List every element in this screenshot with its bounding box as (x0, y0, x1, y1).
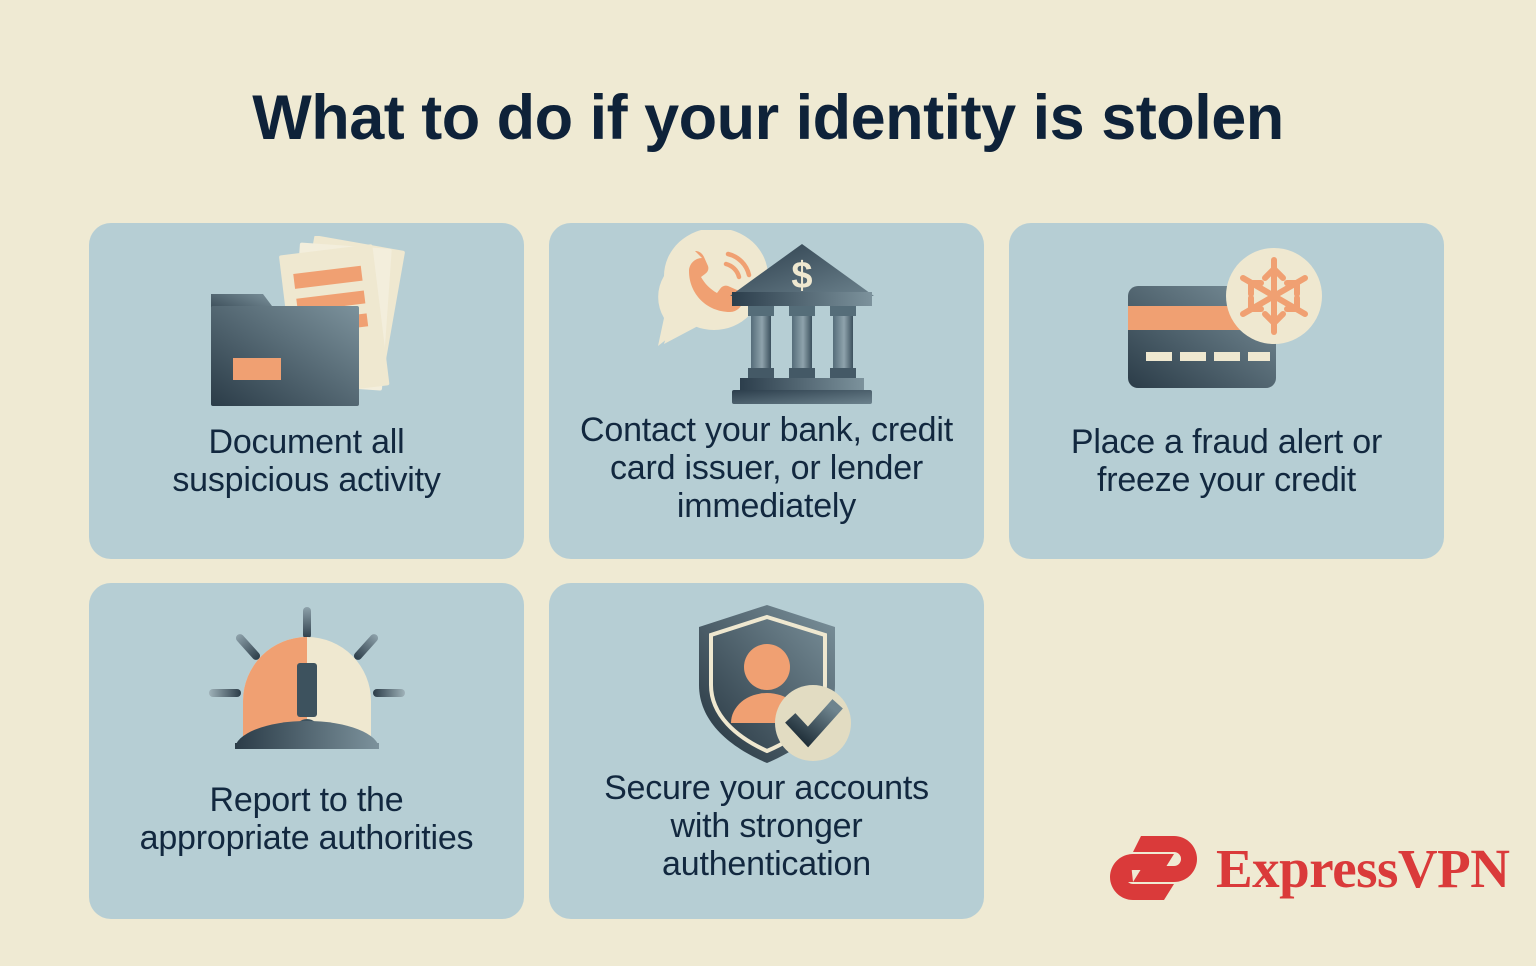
cards-grid: Document all suspicious activity (89, 223, 1447, 919)
card-label: Document all suspicious activity (112, 423, 502, 499)
card-label-line: Secure your accounts (572, 769, 962, 807)
card-report-authorities[interactable]: Report to the appropriate authorities (89, 583, 524, 919)
shield-user-check-icon (549, 583, 984, 769)
cards-row-1: Document all suspicious activity (89, 223, 1447, 559)
card-label-line: appropriate authorities (112, 819, 502, 857)
card-document-activity[interactable]: Document all suspicious activity (89, 223, 524, 559)
card-label-line: suspicious activity (112, 461, 502, 499)
credit-card-snowflake-icon (1009, 223, 1444, 423)
expressvpn-wordmark: ExpressVPN (1216, 841, 1509, 896)
card-label: Secure your accounts with stronger authe… (572, 769, 962, 883)
expressvpn-logo[interactable]: ExpressVPN (1108, 833, 1509, 903)
card-label: Report to the appropriate authorities (112, 781, 502, 857)
expressvpn-e-mark-icon (1108, 833, 1200, 903)
card-label-line: Document all (112, 423, 502, 461)
card-label: Contact your bank, credit card issuer, o… (572, 411, 962, 525)
card-label-line: immediately (572, 487, 962, 525)
infographic-page: What to do if your identity is stolen (0, 0, 1536, 966)
card-label-line: with stronger (572, 807, 962, 845)
card-label-line: Contact your bank, credit (572, 411, 962, 449)
card-secure-accounts[interactable]: Secure your accounts with stronger authe… (549, 583, 984, 919)
card-label: Place a fraud alert or freeze your credi… (1032, 423, 1422, 499)
card-label-line: Place a fraud alert or (1032, 423, 1422, 461)
card-label-line: Report to the (112, 781, 502, 819)
card-label-line: card issuer, or lender (572, 449, 962, 487)
card-label-line: freeze your credit (1032, 461, 1422, 499)
card-label-line: authentication (572, 845, 962, 883)
page-title: What to do if your identity is stolen (0, 82, 1536, 154)
folder-documents-icon (89, 223, 524, 423)
card-contact-bank[interactable]: $ (549, 223, 984, 559)
siren-alert-icon (89, 583, 524, 781)
bank-phone-call-icon: $ (549, 223, 984, 411)
svg-text:$: $ (791, 255, 812, 297)
card-fraud-alert[interactable]: Place a fraud alert or freeze your credi… (1009, 223, 1444, 559)
